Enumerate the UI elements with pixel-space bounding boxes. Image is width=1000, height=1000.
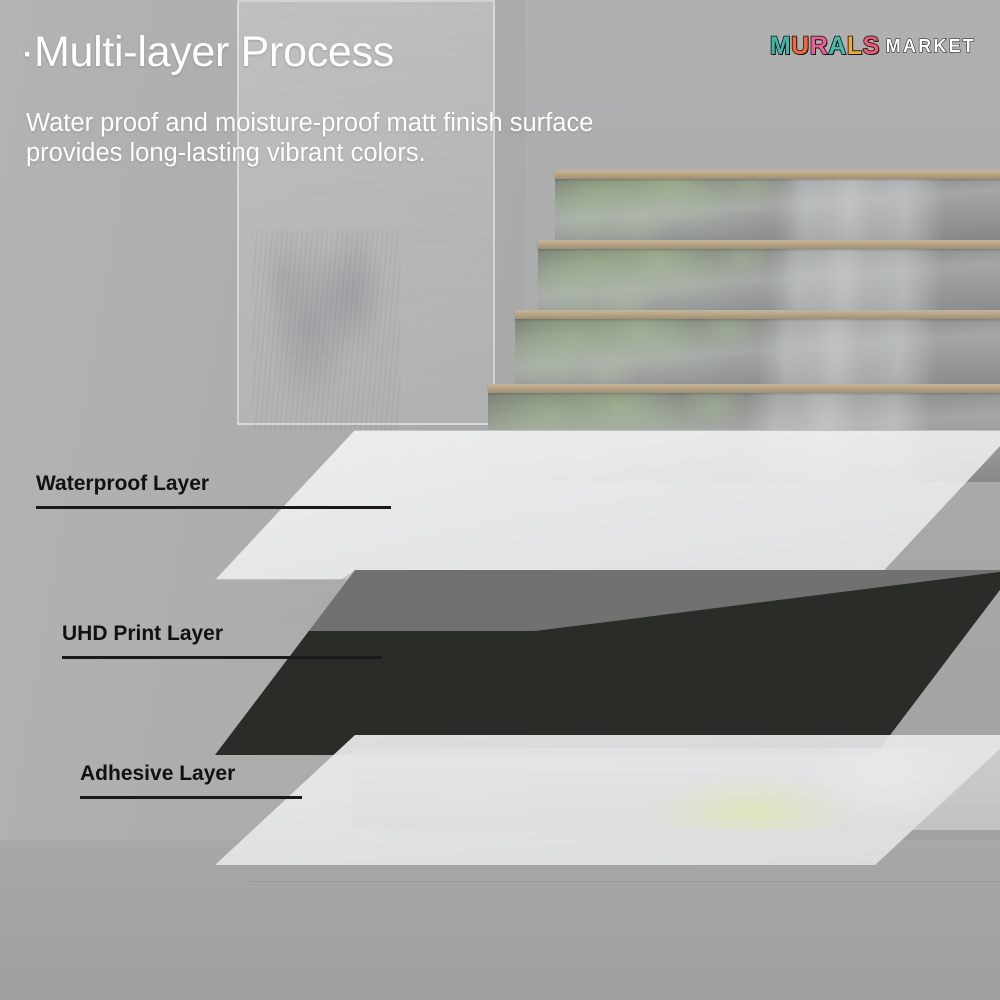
stair-step	[555, 178, 1000, 240]
brand-logo[interactable]: M U R A L S MARKET	[770, 32, 976, 61]
slide-canvas: ·Multi-layer Process Water proof and moi…	[0, 0, 1000, 1000]
callout-waterproof-layer: Waterproof Layer	[36, 472, 391, 509]
logo-letter-a: A	[828, 32, 847, 61]
logo-letter-s: S	[863, 32, 880, 61]
callout-label: Adhesive Layer	[80, 762, 302, 786]
callout-label: Waterproof Layer	[36, 472, 391, 496]
logo-letter-u: U	[791, 32, 810, 61]
stair-tread	[538, 240, 1000, 249]
stair-riser-overlay	[515, 318, 1000, 392]
page-title: ·Multi-layer Process	[20, 28, 394, 77]
stair-tread	[555, 170, 1000, 179]
logo-murals-wordmark: M U R A L S	[770, 32, 880, 61]
floor-seam	[250, 881, 1000, 882]
stair-tread	[515, 310, 1000, 319]
callout-adhesive-layer: Adhesive Layer	[80, 762, 302, 799]
stair-step	[515, 318, 1000, 392]
callout-uhd-print-layer: UHD Print Layer	[62, 622, 382, 659]
logo-letter-l: L	[847, 32, 863, 61]
stair-riser-overlay	[555, 178, 1000, 240]
callout-label: UHD Print Layer	[62, 622, 382, 646]
logo-market-wordmark: MARKET	[886, 36, 976, 57]
callout-underline	[36, 506, 391, 509]
stair-tread	[488, 384, 1000, 393]
logo-letter-r: R	[810, 32, 829, 61]
callout-underline	[80, 796, 302, 799]
page-subtitle: Water proof and moisture-proof matt fini…	[26, 108, 593, 168]
logo-letter-m: M	[770, 32, 791, 61]
callout-underline	[62, 656, 382, 659]
